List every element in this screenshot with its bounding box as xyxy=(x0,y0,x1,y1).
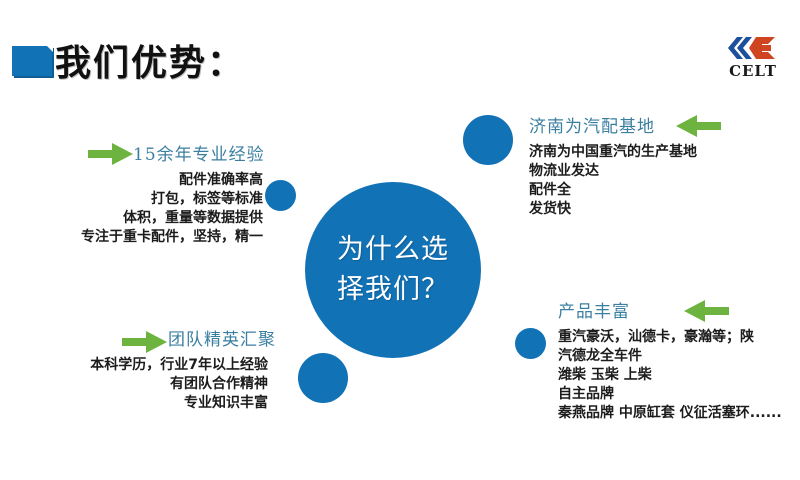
title-bullet-icon xyxy=(12,46,52,76)
feature-block-base: 济南为汽配基地 济南为中国重汽的生产基地 物流业发达 配件全 发货快 xyxy=(529,112,799,219)
feature-block-team: 团队精英汇聚 本科学历，行业7年以上经验 有团队合作精神 专业知识丰富 xyxy=(0,325,300,413)
feature-body-base: 济南为中国重汽的生产基地 物流业发达 配件全 发货快 xyxy=(529,143,799,219)
feature-line: 体积，重量等数据提供 xyxy=(0,209,263,228)
feature-heading-products: 产品丰富 xyxy=(558,297,800,322)
feature-line: 配件准确率高 xyxy=(0,171,263,190)
feature-line: 有团队合作精神 xyxy=(0,375,268,394)
feature-line: 汽德龙全车件 xyxy=(558,347,800,366)
feature-line: 潍柴 玉柴 上柴 xyxy=(558,366,800,385)
page-title: 我们优势： xyxy=(55,34,245,86)
logo-wordmark: CELT xyxy=(718,62,788,80)
center-line-1: 为什么选 xyxy=(328,230,458,270)
feature-body-experience: 配件准确率高 打包，标签等标准 体积，重量等数据提供 专注于重卡配件，坚持，精一 xyxy=(0,171,300,247)
feature-line: 济南为中国重汽的生产基地 xyxy=(529,143,799,162)
center-circle-label: 为什么选 择我们？ xyxy=(328,230,458,310)
feature-body-products: 重汽豪沃，汕德卡，豪瀚等；陕 汽德龙全车件 潍柴 玉柴 上柴 自主品牌 秦燕品牌… xyxy=(558,328,800,423)
feature-line: 自主品牌 xyxy=(558,385,800,404)
feature-line: 专注于重卡配件，坚持，精一 xyxy=(0,228,263,247)
feature-body-team: 本科学历，行业7年以上经验 有团队合作精神 专业知识丰富 xyxy=(0,356,300,413)
accent-circle-top-right xyxy=(463,115,513,165)
feature-line: 专业知识丰富 xyxy=(0,394,268,413)
feature-line: 打包，标签等标准 xyxy=(0,190,263,209)
accent-circle-bottom-left xyxy=(298,353,348,403)
feature-heading-base: 济南为汽配基地 xyxy=(529,112,799,137)
feature-block-experience: 15余年专业经验 配件准确率高 打包，标签等标准 体积，重量等数据提供 专注于重… xyxy=(0,140,300,247)
feature-line: 重汽豪沃，汕德卡，豪瀚等；陕 xyxy=(558,328,800,347)
center-line-2: 择我们？ xyxy=(328,270,458,310)
feature-heading-team: 团队精英汇聚 xyxy=(168,325,300,350)
feature-line: 秦燕品牌 中原缸套 仪征活塞环...... xyxy=(558,404,800,423)
brand-logo: CELT xyxy=(718,32,788,82)
center-circle: 为什么选 择我们？ xyxy=(305,182,481,358)
feature-line: 配件全 xyxy=(529,181,799,200)
feature-heading-experience: 15余年专业经验 xyxy=(133,140,300,165)
slide-canvas: 我们优势： CELT 为什么选 择我们？ xyxy=(0,0,800,480)
accent-circle-small-bottom-right xyxy=(515,328,546,359)
feature-block-products: 产品丰富 重汽豪沃，汕德卡，豪瀚等；陕 汽德龙全车件 潍柴 玉柴 上柴 自主品牌… xyxy=(558,297,800,423)
feature-line: 本科学历，行业7年以上经验 xyxy=(0,356,268,375)
celt-logo-mark-icon xyxy=(718,32,788,64)
feature-line: 物流业发达 xyxy=(529,162,799,181)
feature-line: 发货快 xyxy=(529,200,799,219)
